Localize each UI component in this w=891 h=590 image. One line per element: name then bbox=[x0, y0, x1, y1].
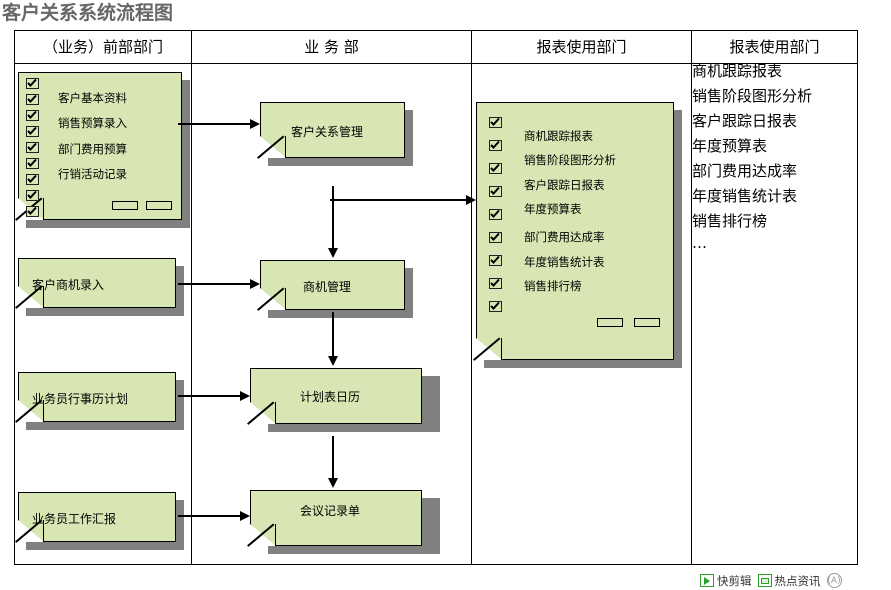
checkbox-icon[interactable] bbox=[26, 110, 39, 121]
checkbox-icon[interactable] bbox=[26, 158, 39, 169]
box-label: 业务员行事历计划 bbox=[32, 390, 128, 407]
report-list-item: 年度销售统计表 bbox=[692, 189, 797, 204]
box-label: 业务员工作汇报 bbox=[32, 510, 116, 527]
checkbox-icon[interactable] bbox=[489, 209, 502, 220]
arrow-opportunity-to-schedule bbox=[327, 312, 339, 366]
arrow-opportunity-entry-to-management bbox=[178, 278, 260, 290]
box-label: 商机管理 bbox=[303, 278, 351, 295]
right-document-item: 销售阶段图形分析 bbox=[524, 152, 616, 168]
right-document-item: 年度预算表 bbox=[524, 201, 582, 217]
taskbar-item-label: 快剪辑 bbox=[717, 573, 752, 589]
column-header-business-dept: 业 务 部 bbox=[192, 34, 471, 60]
play-icon bbox=[700, 574, 714, 587]
arrow-calendar-plan-to-schedule bbox=[178, 390, 250, 402]
right-document-item: 销售排行榜 bbox=[524, 278, 582, 294]
checkbox-icon[interactable] bbox=[26, 206, 39, 217]
box-label: 会议记录单 bbox=[300, 502, 360, 519]
column-divider-2 bbox=[471, 31, 472, 564]
report-list-item: 商机跟踪报表 bbox=[692, 64, 782, 79]
right-document-fold-corner bbox=[476, 336, 504, 360]
left-document-item: 部门费用预算 bbox=[58, 141, 127, 157]
right-document-item: 部门费用达成率 bbox=[524, 229, 605, 245]
column-header-front-office: （业务）前部部门 bbox=[15, 34, 191, 60]
checkbox-icon[interactable] bbox=[26, 174, 39, 185]
report-list-ellipsis: … bbox=[692, 236, 707, 251]
left-document-item: 销售预算录入 bbox=[58, 115, 127, 131]
column-header-report-users-2: 报表使用部门 bbox=[692, 34, 857, 60]
taskbar-item-quick-edit[interactable]: 快剪辑 bbox=[700, 573, 752, 589]
checkbox-icon[interactable] bbox=[489, 186, 502, 197]
box-label: 计划表日历 bbox=[300, 388, 360, 405]
left-document-item: 行销活动记录 bbox=[58, 166, 127, 182]
column-divider-3 bbox=[691, 31, 692, 564]
page-title: 客户关系系统流程图 bbox=[2, 0, 173, 26]
arrow-crm-to-report-document bbox=[330, 194, 476, 206]
checkbox-icon[interactable] bbox=[26, 78, 39, 89]
document-mini-button[interactable] bbox=[112, 201, 138, 210]
right-document-item: 客户跟踪日报表 bbox=[524, 177, 605, 193]
report-list-item: 部门费用达成率 bbox=[692, 164, 797, 179]
checkbox-icon[interactable] bbox=[489, 163, 502, 174]
document-mini-button[interactable] bbox=[634, 318, 660, 327]
taskbar-item-label: 热点资讯 bbox=[775, 573, 821, 589]
monitor-icon bbox=[758, 574, 772, 587]
report-list-item: 销售排行榜 bbox=[692, 214, 767, 229]
left-document-item: 客户基本资料 bbox=[58, 90, 127, 106]
box-label: 客户关系管理 bbox=[291, 123, 363, 140]
arrow-schedule-to-minutes bbox=[327, 436, 339, 488]
report-list-item: 销售阶段图形分析 bbox=[692, 89, 812, 104]
arrow-left-doc-to-crm bbox=[178, 118, 260, 130]
taskbar: 快剪辑 热点资讯 (A) bbox=[700, 571, 891, 590]
checkbox-icon[interactable] bbox=[26, 94, 39, 105]
box-fold-corner bbox=[260, 286, 288, 310]
right-document-item: 商机跟踪报表 bbox=[524, 128, 593, 144]
checkbox-icon[interactable] bbox=[489, 255, 502, 266]
checkbox-icon[interactable] bbox=[489, 232, 502, 243]
checkbox-icon[interactable] bbox=[489, 301, 502, 312]
checkbox-icon[interactable] bbox=[26, 142, 39, 153]
box-fold-corner bbox=[250, 400, 278, 424]
right-document-item: 年度销售统计表 bbox=[524, 254, 605, 270]
column-header-report-users-1: 报表使用部门 bbox=[472, 34, 691, 60]
taskbar-item-hot-news[interactable]: 热点资讯 bbox=[758, 573, 821, 589]
box-label: 客户商机录入 bbox=[32, 276, 104, 293]
checkbox-icon[interactable] bbox=[489, 140, 502, 151]
document-mini-button[interactable] bbox=[597, 318, 623, 327]
document-mini-button[interactable] bbox=[146, 201, 172, 210]
checkbox-icon[interactable] bbox=[26, 190, 39, 201]
box-fold-corner bbox=[250, 522, 278, 546]
taskbar-badge-icon[interactable]: (A) bbox=[827, 573, 842, 588]
arrow-work-report-to-minutes bbox=[178, 510, 250, 522]
report-list-item: 客户跟踪日报表 bbox=[692, 114, 797, 129]
arrow-crm-to-opportunity bbox=[327, 186, 339, 258]
checkbox-icon[interactable] bbox=[489, 117, 502, 128]
box-fold-corner bbox=[260, 134, 288, 158]
report-list-item: 年度预算表 bbox=[692, 139, 767, 154]
checkbox-icon[interactable] bbox=[26, 126, 39, 137]
column-divider-1 bbox=[191, 31, 192, 564]
checkbox-icon[interactable] bbox=[489, 278, 502, 289]
